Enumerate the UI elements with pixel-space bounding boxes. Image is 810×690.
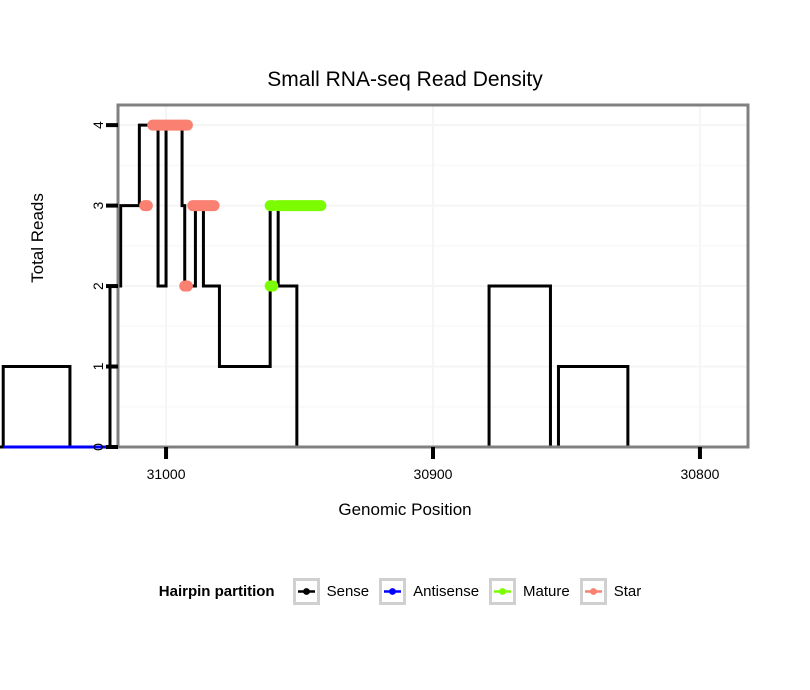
legend-label: Mature bbox=[523, 583, 570, 600]
read-density-plot: 01234310003090030800 bbox=[0, 0, 810, 480]
y-tick-label: 4 bbox=[90, 121, 106, 129]
legend-label: Sense bbox=[327, 583, 370, 600]
y-tick-label: 2 bbox=[90, 282, 106, 290]
legend-entry-mature[interactable]: Mature bbox=[489, 578, 570, 605]
y-tick-label: 3 bbox=[90, 201, 106, 209]
x-tick-label: 31000 bbox=[147, 466, 186, 480]
y-tick-label: 0 bbox=[90, 443, 106, 451]
legend-key-sense bbox=[293, 578, 320, 605]
legend-entry-sense[interactable]: Sense bbox=[293, 578, 370, 605]
chart-page: Small RNA-seq Read Density Total Reads 0… bbox=[0, 0, 810, 690]
x-tick-label: 30900 bbox=[414, 466, 453, 480]
legend-entry-antisense[interactable]: Antisense bbox=[379, 578, 479, 605]
y-tick-label: 1 bbox=[90, 362, 106, 370]
x-tick-label: 30800 bbox=[680, 466, 719, 480]
legend-title: Hairpin partition bbox=[159, 583, 275, 600]
legend-key-star bbox=[580, 578, 607, 605]
legend-label: Antisense bbox=[413, 583, 479, 600]
legend-label: Star bbox=[614, 583, 642, 600]
legend-key-mature bbox=[489, 578, 516, 605]
legend-entry-star[interactable]: Star bbox=[580, 578, 642, 605]
x-axis-label: Genomic Position bbox=[0, 500, 810, 520]
legend: Hairpin partition SenseAntisenseMatureSt… bbox=[0, 578, 810, 605]
legend-key-antisense bbox=[379, 578, 406, 605]
